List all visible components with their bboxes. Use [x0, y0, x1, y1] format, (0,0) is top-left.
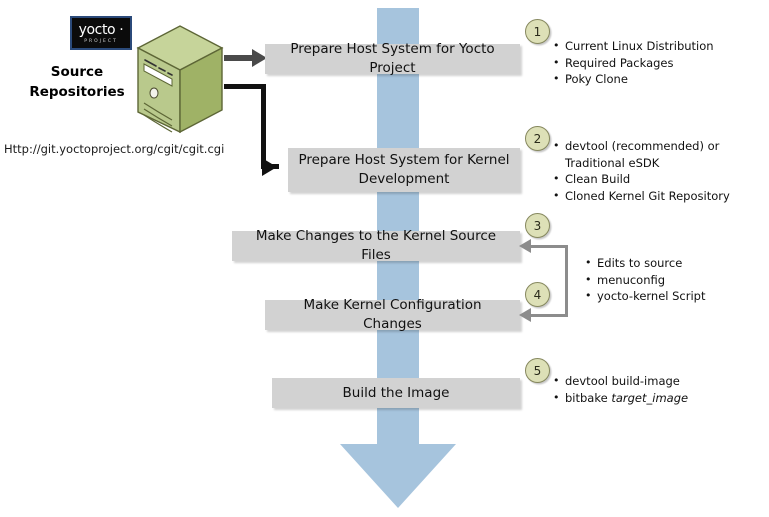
bullet-list-step-5: devtool build-image bitbake target_image	[552, 373, 764, 406]
bullet-text: yocto-kernel Script	[597, 289, 706, 303]
bullet-text: Required Packages	[565, 56, 674, 70]
feedback-loop-top-horizontal	[530, 245, 568, 248]
step-badge-1: 1	[525, 19, 550, 44]
bullet-text: Poky Clone	[565, 72, 628, 86]
step-badge-2: 2	[525, 126, 550, 151]
step-badge-3: 3	[525, 213, 550, 238]
bullet-text: devtool build-image	[565, 374, 680, 388]
list-item: Poky Clone	[552, 71, 764, 88]
connector-arrow-step2	[262, 158, 277, 176]
connector-server-to-step2-horizontal-top	[224, 84, 266, 89]
bullet-list-step-2: devtool (recommended) or Traditional eSD…	[552, 138, 764, 204]
source-repositories-label-line1: Source	[18, 62, 136, 82]
source-repositories-label: Source Repositories	[18, 62, 136, 102]
connector-server-to-step2-vertical	[261, 84, 266, 169]
yocto-project-logo: yocto · PROJECT	[70, 16, 132, 50]
yocto-logo-subtext: PROJECT	[72, 39, 130, 45]
bullet-text-italic: target_image	[611, 391, 688, 405]
list-item: Required Packages	[552, 55, 764, 72]
list-item: Cloned Kernel Git Repository	[552, 188, 764, 205]
source-repositories-label-line2: Repositories	[18, 82, 136, 102]
list-item: devtool build-image	[552, 373, 764, 390]
process-box-step-1[interactable]: Prepare Host System for Yocto Project	[265, 44, 520, 74]
process-box-step-2[interactable]: Prepare Host System for Kernel Developme…	[288, 148, 520, 192]
flow-arrow-head	[340, 444, 456, 508]
server-tower-icon	[132, 24, 224, 136]
list-item: Clean Build	[552, 171, 764, 188]
bullet-text: menuconfig	[597, 273, 665, 287]
list-item: Current Linux Distribution	[552, 38, 764, 55]
process-box-step-4[interactable]: Make Kernel Configuration Changes	[265, 300, 520, 330]
feedback-loop-bottom-horizontal	[530, 314, 568, 317]
feedback-loop-arrow-to-step4	[519, 308, 531, 322]
process-box-step-3[interactable]: Make Changes to the Kernel Source Files	[232, 231, 520, 261]
feedback-loop-vertical	[565, 247, 568, 317]
bullet-text: Cloned Kernel Git Repository	[565, 189, 730, 203]
bullet-text-continuation: Traditional eSDK	[565, 155, 764, 172]
yocto-logo-wordmark: yocto ·	[72, 22, 130, 39]
bullet-text: Clean Build	[565, 172, 630, 186]
connector-server-to-step1	[224, 55, 254, 61]
list-item: Edits to source	[584, 255, 764, 272]
list-item: yocto-kernel Script	[584, 288, 764, 305]
list-item: bitbake target_image	[552, 390, 764, 407]
bullet-list-step-1: Current Linux Distribution Required Pack…	[552, 38, 764, 88]
process-box-step-5[interactable]: Build the Image	[272, 378, 520, 408]
feedback-loop-arrow-to-step3	[519, 239, 531, 253]
bullet-text: bitbake	[565, 391, 611, 405]
step-badge-4: 4	[525, 282, 550, 307]
step-badge-5: 5	[525, 358, 550, 383]
bullet-text: devtool (recommended) or	[565, 139, 719, 153]
bullet-list-steps-3-and-4: Edits to source menuconfig yocto-kernel …	[584, 255, 764, 305]
bullet-text: Edits to source	[597, 256, 682, 270]
repository-url-text: Http://git.yoctoproject.org/cgit/cgit.cg…	[4, 142, 224, 156]
list-item: menuconfig	[584, 272, 764, 289]
bullet-text: Current Linux Distribution	[565, 39, 714, 53]
list-item: devtool (recommended) or Traditional eSD…	[552, 138, 764, 171]
